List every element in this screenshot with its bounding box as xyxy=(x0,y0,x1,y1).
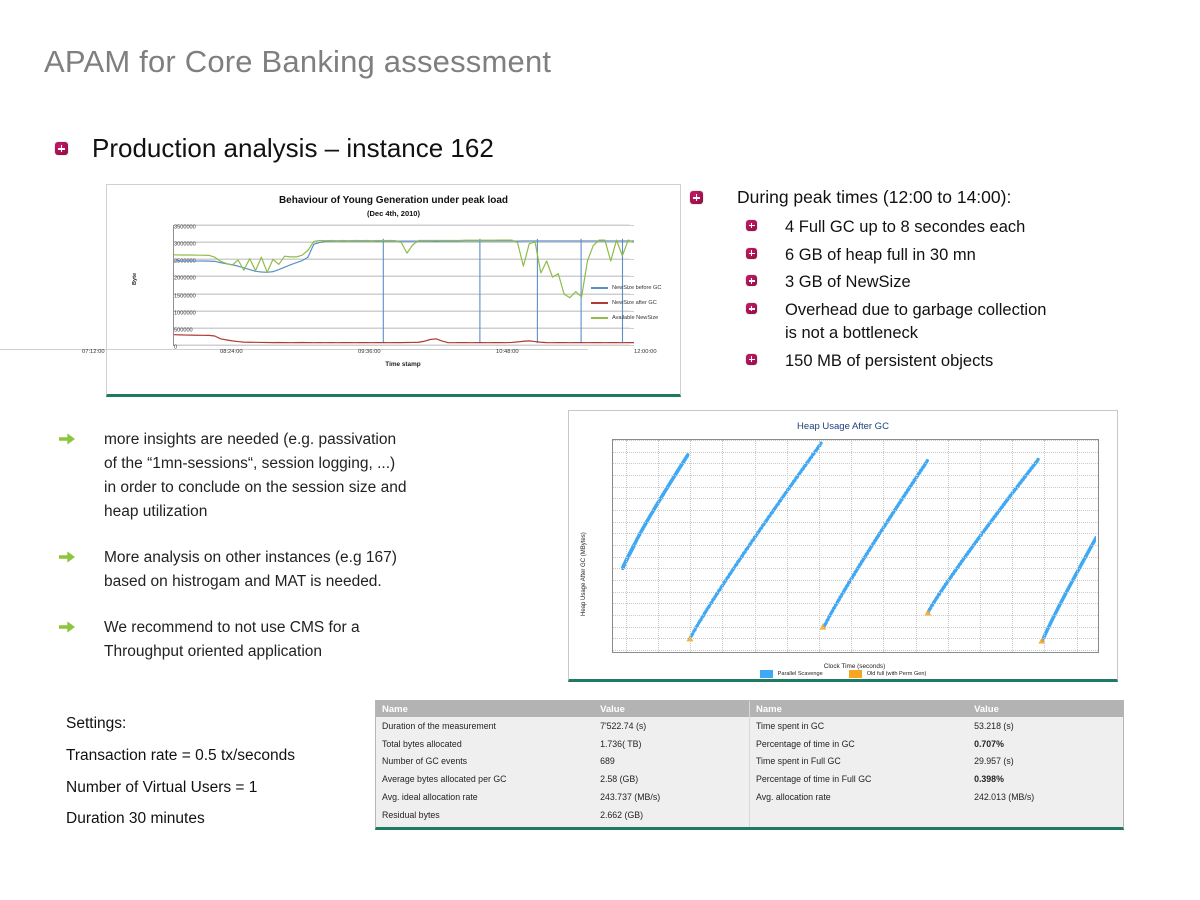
plus-bullet-icon xyxy=(746,220,757,231)
chart2-y-axis-title: Heap Usage After GC (MBytes) xyxy=(581,532,587,616)
chart2-legend: Parallel ScavengeOld full (with Perm Gen… xyxy=(569,670,1117,678)
chart2-gridline-h xyxy=(613,580,1098,581)
chart2-legend-swatch xyxy=(849,670,862,678)
gc-statistics-table: NameValueDuration of the measurement7'52… xyxy=(375,700,1124,830)
plus-bullet-icon xyxy=(746,354,757,365)
plus-bullet-icon xyxy=(746,248,757,259)
chart2-gridline-h xyxy=(613,592,1098,593)
chart2-gridline-h xyxy=(613,510,1098,511)
peak-times-item: 3 GB of NewSize xyxy=(746,271,1150,294)
arrow-right-icon xyxy=(58,549,76,565)
table-row: Time spent in Full GC29.957 (s) xyxy=(750,753,1123,771)
chart2-gridline-h xyxy=(613,463,1098,464)
chart2-gridline-h xyxy=(613,650,1098,651)
chart2-gridline-v xyxy=(626,440,627,652)
chart1-legend-item: NewSize after GC xyxy=(591,300,661,306)
settings-block: Settings: Transaction rate = 0.5 tx/seco… xyxy=(66,708,295,835)
gc-table-value-cell: 243.737 (MB/s) xyxy=(596,792,749,802)
gc-table-value-cell: 2.58 (GB) xyxy=(596,774,749,784)
settings-line-2: Duration 30 minutes xyxy=(66,803,295,835)
chart2-legend-label: Old full (with Perm Gen) xyxy=(867,671,927,677)
chart1-legend: NewSize before GCNewSize after GCAvailab… xyxy=(591,285,661,330)
gc-table-value-cell: 0.398% xyxy=(970,774,1123,784)
chart2-gridline-h xyxy=(613,498,1098,499)
chart1-series-svg xyxy=(174,225,634,345)
chart2-gridline-v xyxy=(980,440,981,652)
gc-table-value-cell: 53.218 (s) xyxy=(970,721,1123,731)
arrow-right-icon xyxy=(58,619,76,635)
gc-table-right-half: NameValueTime spent in GC53.218 (s)Perce… xyxy=(750,701,1123,827)
gc-table-value-cell: 689 xyxy=(596,756,749,766)
recommendation-label: more insights are needed (e.g. passivati… xyxy=(104,428,406,524)
chart1-legend-swatch xyxy=(591,317,608,319)
page-title: APAM for Core Banking assessment xyxy=(44,44,551,80)
chart2-gridline-h xyxy=(613,627,1098,628)
peak-times-item-label: 150 MB of persistent objects xyxy=(785,350,993,373)
table-row xyxy=(750,806,1123,824)
gc-table-header-cell: Value xyxy=(596,704,749,715)
gc-table-name-cell: Number of GC events xyxy=(376,756,596,766)
arrow-right-icon xyxy=(58,549,76,565)
chart2-gridline-h xyxy=(613,522,1098,523)
gc-table-name-cell: Avg. ideal allocation rate xyxy=(376,792,596,802)
chart2-gridline-h xyxy=(613,568,1098,569)
recommendation-row: More analysis on other instances (e.g 16… xyxy=(58,546,558,594)
table-row: Time spent in GC53.218 (s) xyxy=(750,717,1123,735)
gc-table-value-cell: 7'522.74 (s) xyxy=(596,721,749,731)
chart2-gridline-h xyxy=(613,440,1098,441)
gc-table-name-cell: Average bytes allocated per GC xyxy=(376,774,596,784)
chart2-gridline-h xyxy=(613,487,1098,488)
gc-table-header-cell: Value xyxy=(970,704,1123,715)
chart2-gridline-v xyxy=(883,440,884,652)
gc-table-header-row: NameValue xyxy=(376,701,749,717)
peak-times-lead-row: During peak times (12:00 to 14:00): xyxy=(690,187,1150,209)
peak-times-item: 4 Full GC up to 8 secondes each xyxy=(746,216,1150,239)
gc-table-name-cell: Duration of the measurement xyxy=(376,721,596,731)
gc-table-left-half: NameValueDuration of the measurement7'52… xyxy=(376,701,750,827)
peak-times-item-label: 3 GB of NewSize xyxy=(785,271,911,294)
chart2-gridline-v xyxy=(1044,440,1045,652)
table-row: Avg. ideal allocation rate243.737 (MB/s) xyxy=(376,788,749,806)
chart2-gridline-h xyxy=(613,638,1098,639)
peak-times-item-label: 6 GB of heap full in 30 mn xyxy=(785,244,976,267)
peak-times-lead-label: During peak times (12:00 to 14:00): xyxy=(737,187,1011,209)
plus-bullet-icon xyxy=(55,142,68,155)
section-heading-label: Production analysis – instance 162 xyxy=(92,133,494,164)
chart2-plot-area: 2250230023502400245025002550260026502700… xyxy=(612,439,1099,653)
chart2-gridline-v xyxy=(948,440,949,652)
gc-table-value-cell: 1.736( TB) xyxy=(596,739,749,749)
gc-table-value-cell: 29.957 (s) xyxy=(970,756,1123,766)
gc-table-header-cell: Name xyxy=(376,704,596,715)
chart1-legend-item: Available NewSize xyxy=(591,315,661,321)
recommendation-row: more insights are needed (e.g. passivati… xyxy=(58,428,558,524)
chart1-y-axis-title: Byte xyxy=(132,273,138,285)
table-row: Residual bytes2.662 (GB) xyxy=(376,806,749,824)
recommendation-label: We recommend to not use CMS for a Throug… xyxy=(104,616,360,664)
chart2-gridline-v xyxy=(787,440,788,652)
recommendation-row: We recommend to not use CMS for a Throug… xyxy=(58,616,558,664)
chart2-legend-item: Old full (with Perm Gen) xyxy=(849,670,927,678)
chart2-gridline-h xyxy=(613,615,1098,616)
chart2-gridline-v xyxy=(690,440,691,652)
heap-usage-chart: Heap Usage After GC Heap Usage After GC … xyxy=(568,410,1118,682)
peak-times-item-label: 4 Full GC up to 8 secondes each xyxy=(785,216,1025,239)
chart1-plot-area: 0500000100000015000002000000250000030000… xyxy=(173,225,634,346)
chart2-gridline-h xyxy=(613,475,1098,476)
chart2-gridline-v xyxy=(851,440,852,652)
chart2-gridline-v xyxy=(1012,440,1013,652)
slide-canvas: APAM for Core Banking assessment Product… xyxy=(0,0,1200,900)
chart1-legend-label: NewSize before GC xyxy=(612,285,661,291)
table-row: Avg. allocation rate242.013 (MB/s) xyxy=(750,788,1123,806)
peak-times-item: Overhead due to garbage collection is no… xyxy=(746,299,1150,345)
peak-times-block: During peak times (12:00 to 14:00): 4 Fu… xyxy=(690,187,1150,377)
gc-table-name-cell: Percentage of time in Full GC xyxy=(750,774,970,784)
recommendations-block: more insights are needed (e.g. passivati… xyxy=(58,428,558,686)
table-row: Total bytes allocated1.736( TB) xyxy=(376,735,749,753)
chart1-x-axis-title: Time stamp xyxy=(173,361,633,368)
plus-bullet-icon xyxy=(746,275,757,286)
chart2-legend-item: Parallel Scavenge xyxy=(760,670,823,678)
chart1-legend-item: NewSize before GC xyxy=(591,285,661,291)
chart1-legend-label: Available NewSize xyxy=(612,315,658,321)
settings-line-0: Transaction rate = 0.5 tx/seconds xyxy=(66,740,295,772)
chart2-gridline-h xyxy=(613,533,1098,534)
chart2-gridline-v xyxy=(755,440,756,652)
chart1-legend-swatch xyxy=(591,287,608,289)
chart2-gridline-v xyxy=(722,440,723,652)
young-generation-chart: Behaviour of Young Generation under peak… xyxy=(106,184,681,397)
chart2-gridline-h xyxy=(613,545,1098,546)
chart1-subtitle: (Dec 4th, 2010) xyxy=(107,209,680,218)
settings-line-1: Number of Virtual Users = 1 xyxy=(66,772,295,804)
table-row: Number of GC events689 xyxy=(376,753,749,771)
table-row: Percentage of time in GC0.707% xyxy=(750,735,1123,753)
chart2-legend-label: Parallel Scavenge xyxy=(778,671,823,677)
peak-times-list: 4 Full GC up to 8 secondes each6 GB of h… xyxy=(690,216,1150,373)
gc-table-value-cell: 242.013 (MB/s) xyxy=(970,792,1123,802)
chart1-title: Behaviour of Young Generation under peak… xyxy=(107,195,680,206)
gc-table-name-cell: Time spent in Full GC xyxy=(750,756,970,766)
chart2-x-axis-title: Clock Time (seconds) xyxy=(612,663,1097,670)
recommendation-label: More analysis on other instances (e.g 16… xyxy=(104,546,397,594)
peak-times-item-label: Overhead due to garbage collection is no… xyxy=(785,299,1046,345)
peak-times-item: 150 MB of persistent objects xyxy=(746,350,1150,373)
gc-table-value-cell: 0.707% xyxy=(970,739,1123,749)
chart2-gridline-v xyxy=(819,440,820,652)
gc-table-name-cell: Avg. allocation rate xyxy=(750,792,970,802)
table-row: Duration of the measurement7'522.74 (s) xyxy=(376,717,749,735)
chart2-gridline-v xyxy=(1077,440,1078,652)
arrow-right-icon xyxy=(58,619,76,635)
table-row: Percentage of time in Full GC0.398% xyxy=(750,770,1123,788)
chart1-x-tick-label: 10:48:00 xyxy=(496,349,588,350)
arrow-right-icon xyxy=(58,431,76,447)
chart1-legend-swatch xyxy=(591,302,608,304)
chart1-legend-label: NewSize after GC xyxy=(612,300,657,306)
gc-table-name-cell: Total bytes allocated xyxy=(376,739,596,749)
chart2-gridline-h xyxy=(613,557,1098,558)
gc-table-value-cell: 2.662 (GB) xyxy=(596,810,749,820)
arrow-right-icon xyxy=(58,431,76,447)
chart2-gridline-v xyxy=(658,440,659,652)
chart2-gridline-v xyxy=(916,440,917,652)
gc-table-name-cell: Time spent in GC xyxy=(750,721,970,731)
plus-bullet-icon xyxy=(690,191,703,204)
gc-table-name-cell: Residual bytes xyxy=(376,810,596,820)
gc-table-header-cell: Name xyxy=(750,704,970,715)
peak-times-item: 6 GB of heap full in 30 mn xyxy=(746,244,1150,267)
chart2-gridline-h xyxy=(613,603,1098,604)
chart2-legend-swatch xyxy=(760,670,773,678)
gc-table-header-row: NameValue xyxy=(750,701,1123,717)
settings-label: Settings: xyxy=(66,708,295,740)
chart2-gridline-h xyxy=(613,452,1098,453)
section-heading-row: Production analysis – instance 162 xyxy=(55,133,494,164)
chart2-title: Heap Usage After GC xyxy=(569,421,1117,432)
table-row: Average bytes allocated per GC2.58 (GB) xyxy=(376,770,749,788)
plus-bullet-icon xyxy=(746,303,757,314)
gc-table-name-cell: Percentage of time in GC xyxy=(750,739,970,749)
